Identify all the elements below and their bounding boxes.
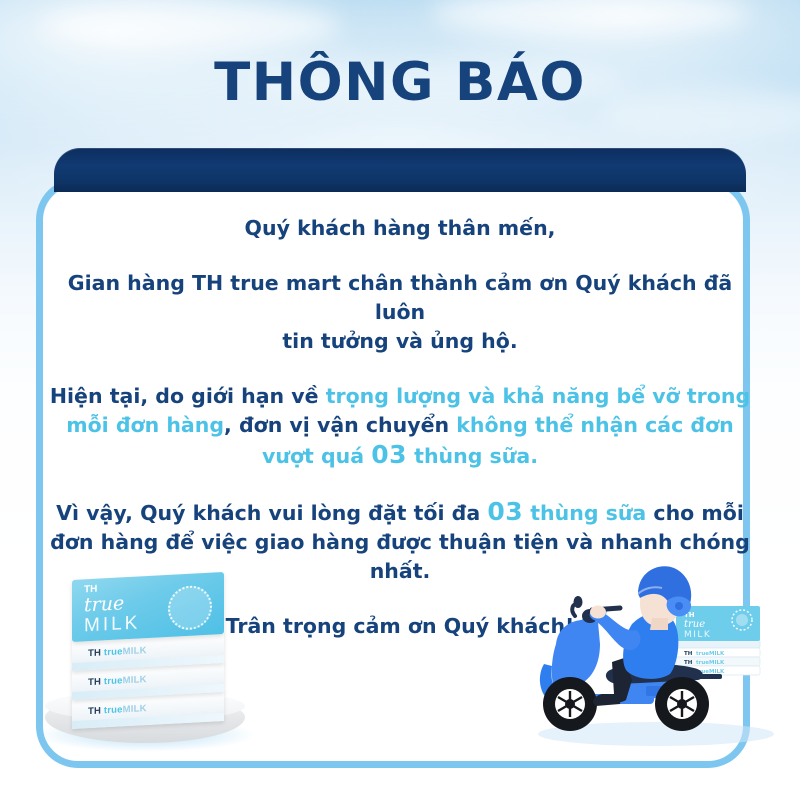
milk-boxes-illustration: TH trueMILK TH trueMILK TH trueMILK TH t… xyxy=(30,560,280,760)
max-order-quantity-number: 03 xyxy=(487,497,523,526)
thanks-line-1: Gian hàng TH true mart chân thành cảm ơn… xyxy=(68,271,732,324)
carried-milk-boxes: TH true MILK TH trueMILK TH trueMILK TH … xyxy=(676,606,760,675)
svg-text:trueMILK: trueMILK xyxy=(696,660,725,666)
paragraph-greeting: Quý khách hàng thân mến, xyxy=(44,214,756,243)
delivery-rider-illustration: TH true MILK TH trueMILK TH trueMILK TH … xyxy=(528,548,796,753)
scooter-mirror xyxy=(574,596,583,608)
svg-text:MILK: MILK xyxy=(684,630,711,640)
milk-label-milk: MILK xyxy=(123,674,147,686)
svg-text:trueMILK: trueMILK xyxy=(696,651,725,657)
cloud-wisp xyxy=(430,0,750,34)
announcement-poster: THÔNG BÁO Quý khách hàng thân mến, Gian … xyxy=(0,0,800,800)
limit-quantity-number: 03 xyxy=(371,440,407,469)
limit-text-e: thùng sữa. xyxy=(407,444,538,468)
greeting-text: Quý khách hàng thân mến, xyxy=(245,216,556,240)
quality-seal-icon xyxy=(168,585,212,631)
milk-box-top: TH true MILK xyxy=(72,572,224,642)
svg-text:TH: TH xyxy=(684,651,693,657)
cloud-wisp xyxy=(40,4,340,48)
max-order-text-a: Vì vậy, Quý khách vui lòng đặt tối đa xyxy=(56,501,487,525)
helmet-ear-dot xyxy=(675,602,683,610)
milk-label-true: true xyxy=(104,675,123,687)
milk-top-brand-milk: MILK xyxy=(84,612,140,637)
rider-foot xyxy=(593,694,622,706)
rider-neck xyxy=(650,618,668,630)
page-title: THÔNG BÁO xyxy=(0,52,800,113)
milk-label-true: true xyxy=(104,646,123,658)
paragraph-thanks: Gian hàng TH true mart chân thành cảm ơn… xyxy=(44,269,756,356)
rider-hand xyxy=(590,606,606,619)
milk-box-label: TH trueMILK xyxy=(88,645,147,659)
milk-label-th: TH xyxy=(88,676,101,688)
milk-label-milk: MILK xyxy=(123,703,147,715)
thanks-line-2: tin tưởng và ủng hộ. xyxy=(282,329,517,353)
svg-text:TH: TH xyxy=(684,660,693,666)
milk-box-label: TH trueMILK xyxy=(88,703,147,717)
limit-text-a: Hiện tại, do giới hạn về xyxy=(50,384,326,408)
svg-text:true: true xyxy=(684,619,705,630)
paragraph-limit-reason: Hiện tại, do giới hạn về trọng lượng và … xyxy=(44,382,756,471)
milk-label-th: TH xyxy=(88,705,101,717)
limit-text-c: , đơn vị vận chuyển xyxy=(224,413,456,437)
scooter-rider-svg: TH true MILK TH trueMILK TH trueMILK TH … xyxy=(528,548,796,753)
panel-navy-top-band xyxy=(54,148,746,192)
milk-label-th: TH xyxy=(88,647,101,659)
milk-label-true: true xyxy=(104,704,123,716)
milk-label-milk: MILK xyxy=(123,645,147,657)
max-order-unit: thùng sữa xyxy=(523,501,646,525)
milk-box-label: TH trueMILK xyxy=(88,674,147,688)
